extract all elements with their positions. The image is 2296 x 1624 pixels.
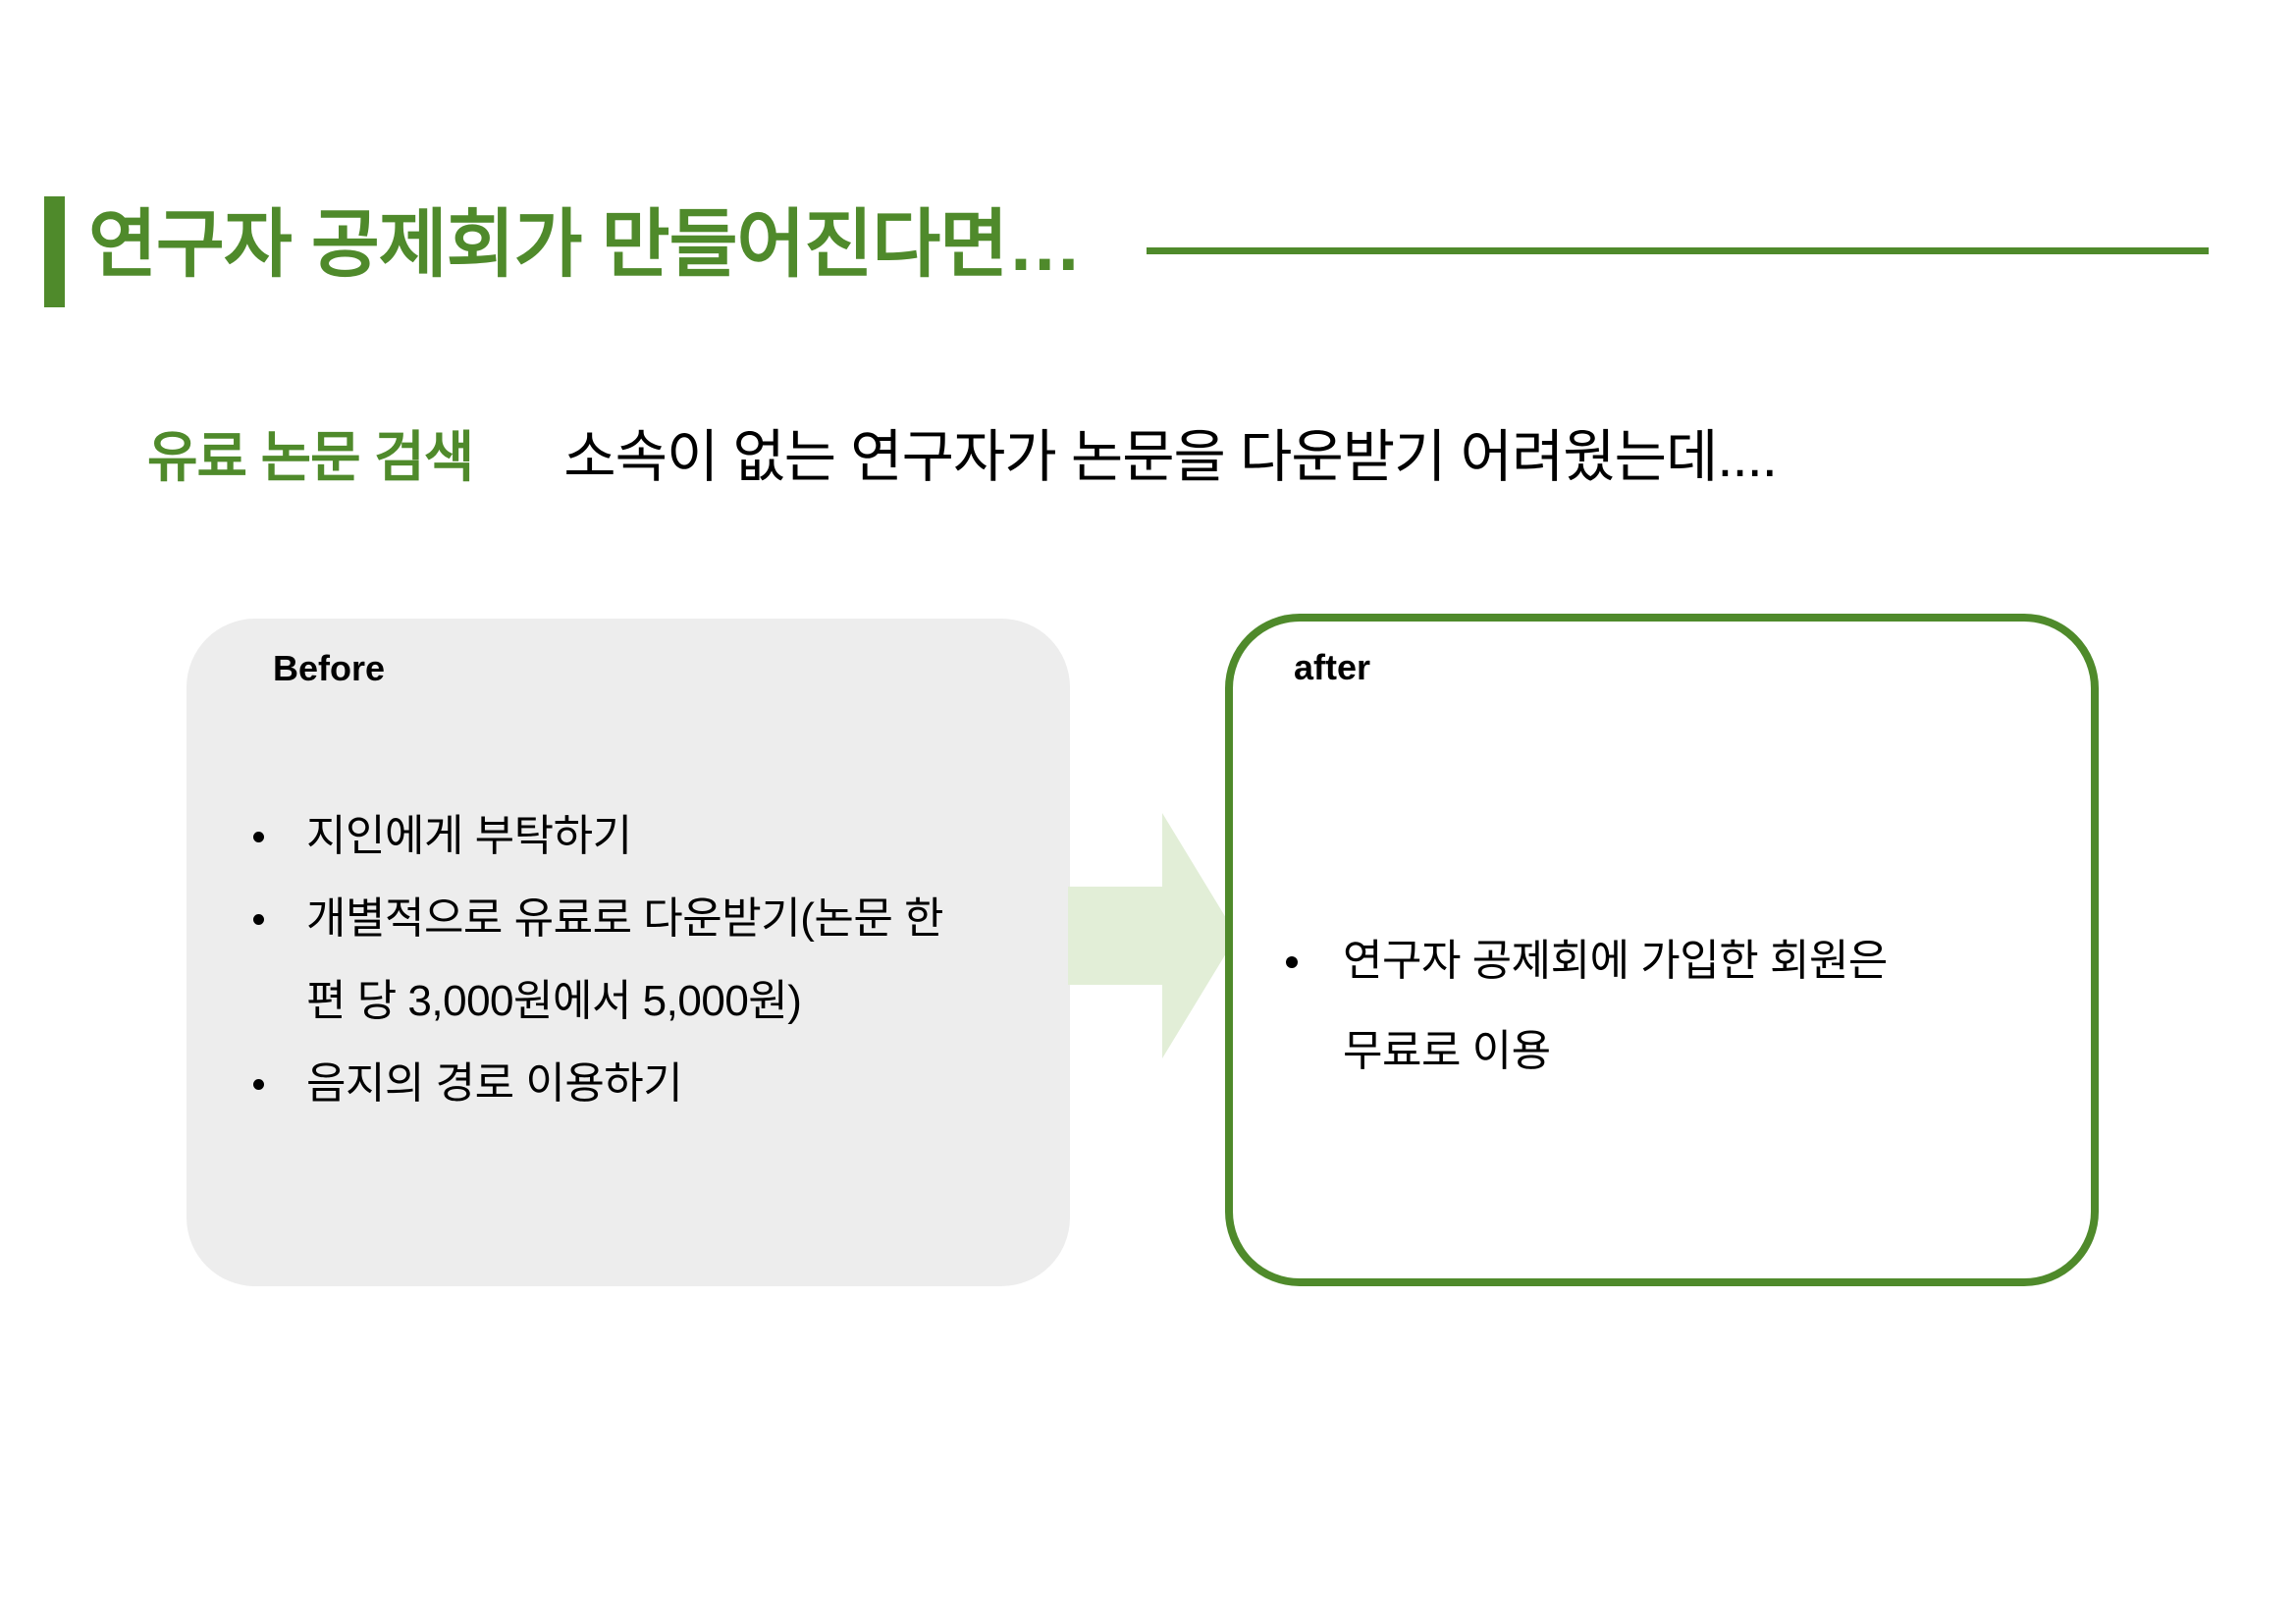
list-item: 개별적으로 유료로 다운받기(논문 한 편 당 3,000원에서 5,000원)	[220, 878, 1050, 1043]
title-divider-rule	[1147, 247, 2209, 254]
subtitle-row: 유료 논문 검색 소속이 없는 연구자가 논문을 다운받기 어려웠는데....	[147, 410, 1777, 499]
before-panel: Before 지인에게 부탁하기 개별적으로 유료로 다운받기(논문 한 편 당…	[187, 619, 1070, 1286]
slide-header: 연구자 공제회가 만들어진다면…	[0, 187, 2296, 314]
list-item-line: 음지의 경로 이용하기	[306, 1059, 682, 1108]
subtitle-text: 소속이 없는 연구자가 논문을 다운받기 어려웠는데....	[563, 410, 1777, 493]
list-item-line: 편 당 3,000원에서 5,000원)	[306, 977, 801, 1025]
page-title: 연구자 공제회가 만들어진다면…	[88, 187, 1081, 304]
after-heading: after	[1294, 647, 1370, 688]
list-item: 연구자 공제회에 가입한 회원은 무료로 이용	[1243, 916, 2061, 1097]
title-accent-bar	[44, 196, 65, 307]
list-item-line: 개별적으로 유료로 다운받기(논문 한	[306, 894, 943, 943]
after-panel: after 연구자 공제회에 가입한 회원은 무료로 이용	[1225, 614, 2099, 1286]
list-item: 음지의 경로 이용하기	[220, 1043, 1050, 1125]
subtitle-label: 유료 논문 검색	[147, 413, 473, 493]
before-bullet-list: 지인에게 부탁하기 개별적으로 유료로 다운받기(논문 한 편 당 3,000원…	[220, 795, 1050, 1125]
list-item: 지인에게 부탁하기	[220, 795, 1050, 878]
presentation-slide: 연구자 공제회가 만들어진다면… 유료 논문 검색 소속이 없는 연구자가 논문…	[0, 0, 2296, 1624]
list-item-line: 연구자 공제회에 가입한 회원은	[1343, 937, 1888, 985]
list-item-line: 무료로 이용	[1343, 1027, 1551, 1075]
list-item-line: 지인에게 부탁하기	[306, 812, 632, 860]
after-bullet-list: 연구자 공제회에 가입한 회원은 무료로 이용	[1243, 916, 2061, 1097]
right-arrow-icon	[1068, 813, 1237, 1058]
before-heading: Before	[273, 648, 385, 689]
